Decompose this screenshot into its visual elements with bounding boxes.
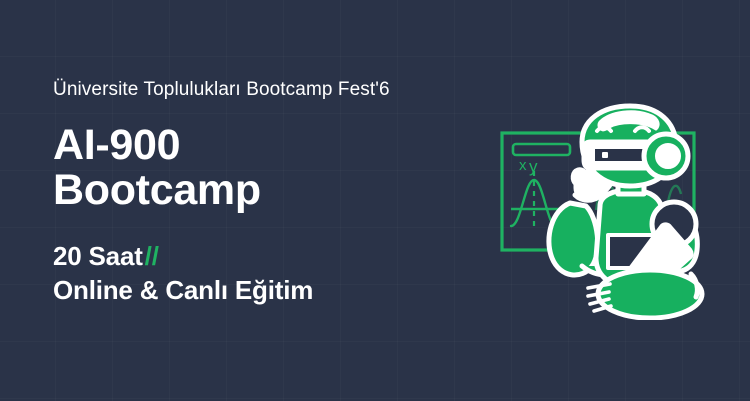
whiteboard-axis-label-x: x bbox=[519, 157, 527, 174]
robot-left-arm bbox=[549, 203, 598, 275]
robot-figure bbox=[549, 106, 702, 318]
banner-details: 20 Saat// Online & Canlı Eğitim bbox=[53, 239, 473, 307]
title-line-2: Bootcamp bbox=[53, 168, 473, 213]
whiteboard-header-bar bbox=[513, 144, 570, 155]
robot-ear-inner bbox=[657, 145, 679, 167]
robot-teacher-illustration: x y bbox=[478, 98, 750, 320]
robot-lap bbox=[598, 270, 702, 318]
detail-format: Online & Canlı Eğitim bbox=[53, 273, 473, 307]
detail-duration: 20 Saat bbox=[53, 241, 143, 271]
promo-banner: Üniversite Toplulukları Bootcamp Fest'6 … bbox=[0, 0, 750, 401]
title-line-1: AI-900 bbox=[53, 123, 473, 168]
banner-eyebrow: Üniversite Toplulukları Bootcamp Fest'6 bbox=[53, 78, 473, 102]
detail-separator: // bbox=[143, 241, 159, 271]
banner-text-block: Üniversite Toplulukları Bootcamp Fest'6 … bbox=[53, 78, 473, 307]
detail-duration-line: 20 Saat// bbox=[53, 239, 473, 273]
page-title: AI-900 Bootcamp bbox=[53, 123, 473, 213]
